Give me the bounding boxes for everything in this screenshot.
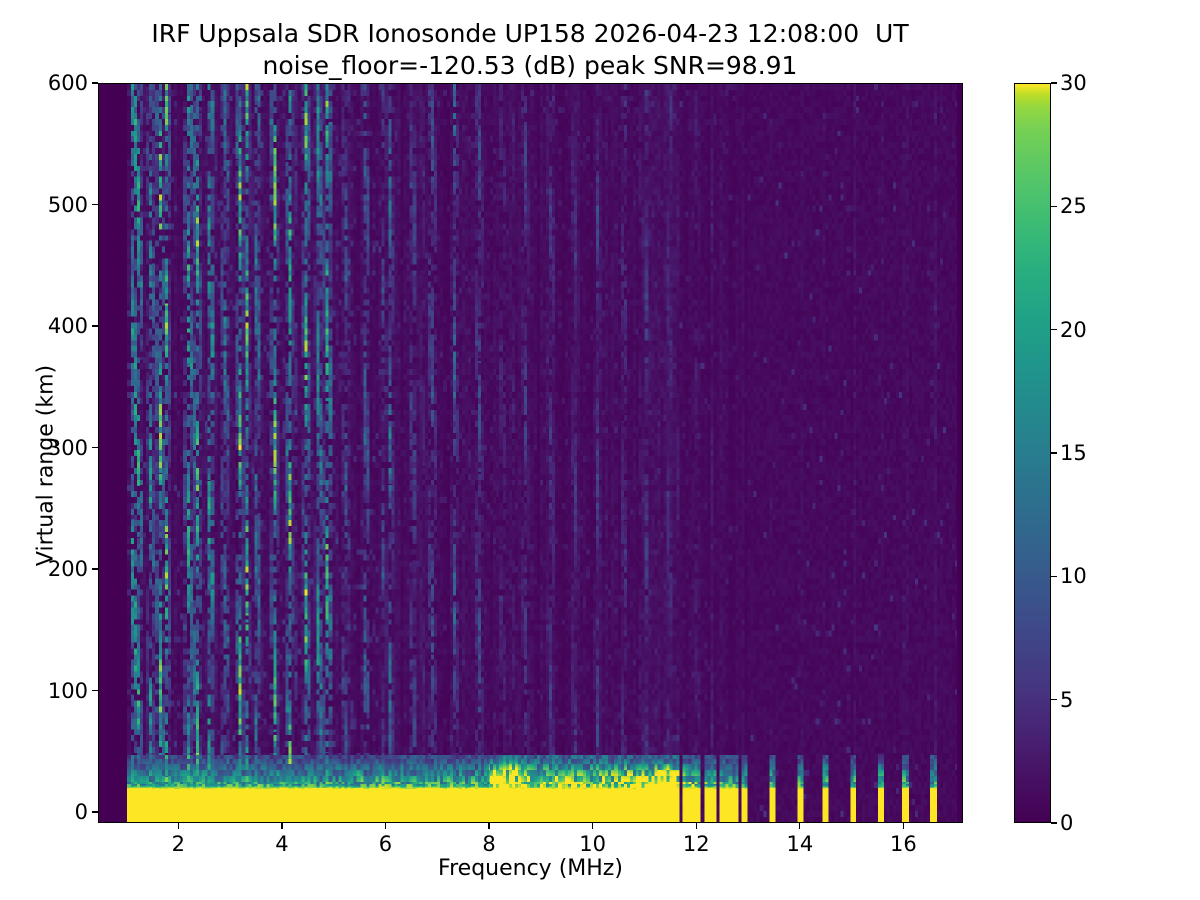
colorbar-tick-label: 30: [1060, 71, 1087, 95]
colorbar-tick-label: 5: [1060, 688, 1073, 712]
y-tick-mark: [92, 82, 98, 83]
ionogram-axes: [98, 83, 963, 823]
x-tick-label: 4: [275, 832, 288, 856]
x-tick-label: 8: [482, 832, 495, 856]
x-tick-mark: [696, 823, 697, 829]
y-axis-label: Virtual range (km): [34, 336, 59, 596]
colorbar-tick-label: 0: [1060, 811, 1073, 835]
x-tick-label: 6: [379, 832, 392, 856]
title-line-2: noise_floor=-120.53 (dB) peak SNR=98.91: [0, 50, 1060, 82]
y-tick-label: 400: [48, 314, 88, 338]
y-tick-mark: [92, 568, 98, 569]
x-tick-label: 16: [890, 832, 917, 856]
x-tick-mark: [281, 823, 282, 829]
y-tick-mark: [92, 811, 98, 812]
colorbar: [1014, 83, 1051, 823]
colorbar-tick-label: 15: [1060, 441, 1087, 465]
x-tick-mark: [178, 823, 179, 829]
x-tick-label: 12: [683, 832, 710, 856]
y-tick-mark: [92, 204, 98, 205]
x-tick-mark: [903, 823, 904, 829]
colorbar-tick-label: 25: [1060, 194, 1087, 218]
colorbar-tick-mark: [1051, 576, 1057, 577]
colorbar-gradient: [1015, 84, 1050, 822]
colorbar-tick-mark: [1051, 699, 1057, 700]
y-tick-mark: [92, 690, 98, 691]
x-axis-label: Frequency (MHz): [98, 856, 963, 881]
y-tick-label: 600: [48, 71, 88, 95]
x-tick-label: 10: [579, 832, 606, 856]
colorbar-tick-mark: [1051, 206, 1057, 207]
colorbar-tick-mark: [1051, 822, 1057, 823]
title-line-1: IRF Uppsala SDR Ionosonde UP158 2026-04-…: [0, 18, 1060, 50]
colorbar-tick-label: 20: [1060, 318, 1087, 342]
x-tick-mark: [592, 823, 593, 829]
colorbar-tick-mark: [1051, 452, 1057, 453]
x-tick-mark: [385, 823, 386, 829]
colorbar-tick-mark: [1051, 329, 1057, 330]
y-tick-label: 0: [75, 800, 88, 824]
y-tick-label: 100: [48, 679, 88, 703]
x-tick-mark: [488, 823, 489, 829]
y-tick-mark: [92, 447, 98, 448]
x-tick-mark: [799, 823, 800, 829]
y-tick-mark: [92, 325, 98, 326]
x-tick-label: 2: [172, 832, 185, 856]
ionogram-heatmap: [99, 84, 962, 822]
ionogram-figure: IRF Uppsala SDR Ionosonde UP158 2026-04-…: [0, 0, 1200, 900]
colorbar-tick-label: 10: [1060, 564, 1087, 588]
x-tick-label: 14: [786, 832, 813, 856]
y-tick-label: 500: [48, 193, 88, 217]
figure-title: IRF Uppsala SDR Ionosonde UP158 2026-04-…: [0, 18, 1060, 82]
colorbar-tick-mark: [1051, 82, 1057, 83]
